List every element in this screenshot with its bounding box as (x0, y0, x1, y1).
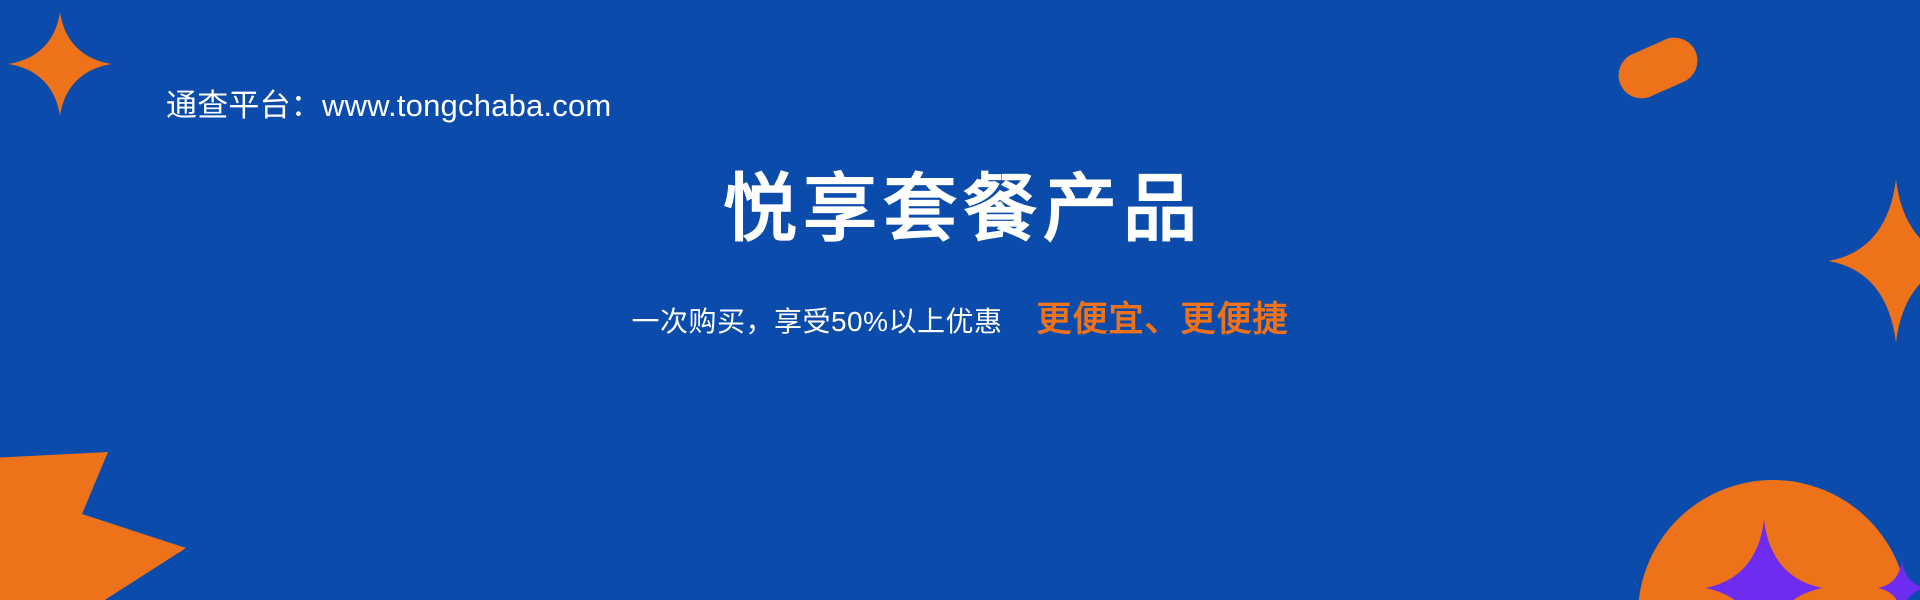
subline-accent-text: 更便宜、更便捷 (1037, 300, 1289, 339)
banner-content: 通查平台：www.tongchaba.com 悦享套餐产品 一次购买，享受50%… (0, 0, 1920, 600)
platform-url[interactable]: www.tongchaba.com (322, 88, 611, 123)
platform-line: 通查平台：www.tongchaba.com (166, 84, 611, 128)
platform-label: 通查平台： (166, 88, 322, 123)
banner-subline: 一次购买，享受50%以上优惠更便宜、更便捷 (0, 296, 1920, 351)
promo-banner: 通查平台：www.tongchaba.com 悦享套餐产品 一次购买，享受50%… (0, 0, 1920, 600)
subline-plain-text: 一次购买，享受50%以上优惠 (631, 306, 1002, 337)
banner-headline: 悦享套餐产品 (0, 163, 1920, 255)
